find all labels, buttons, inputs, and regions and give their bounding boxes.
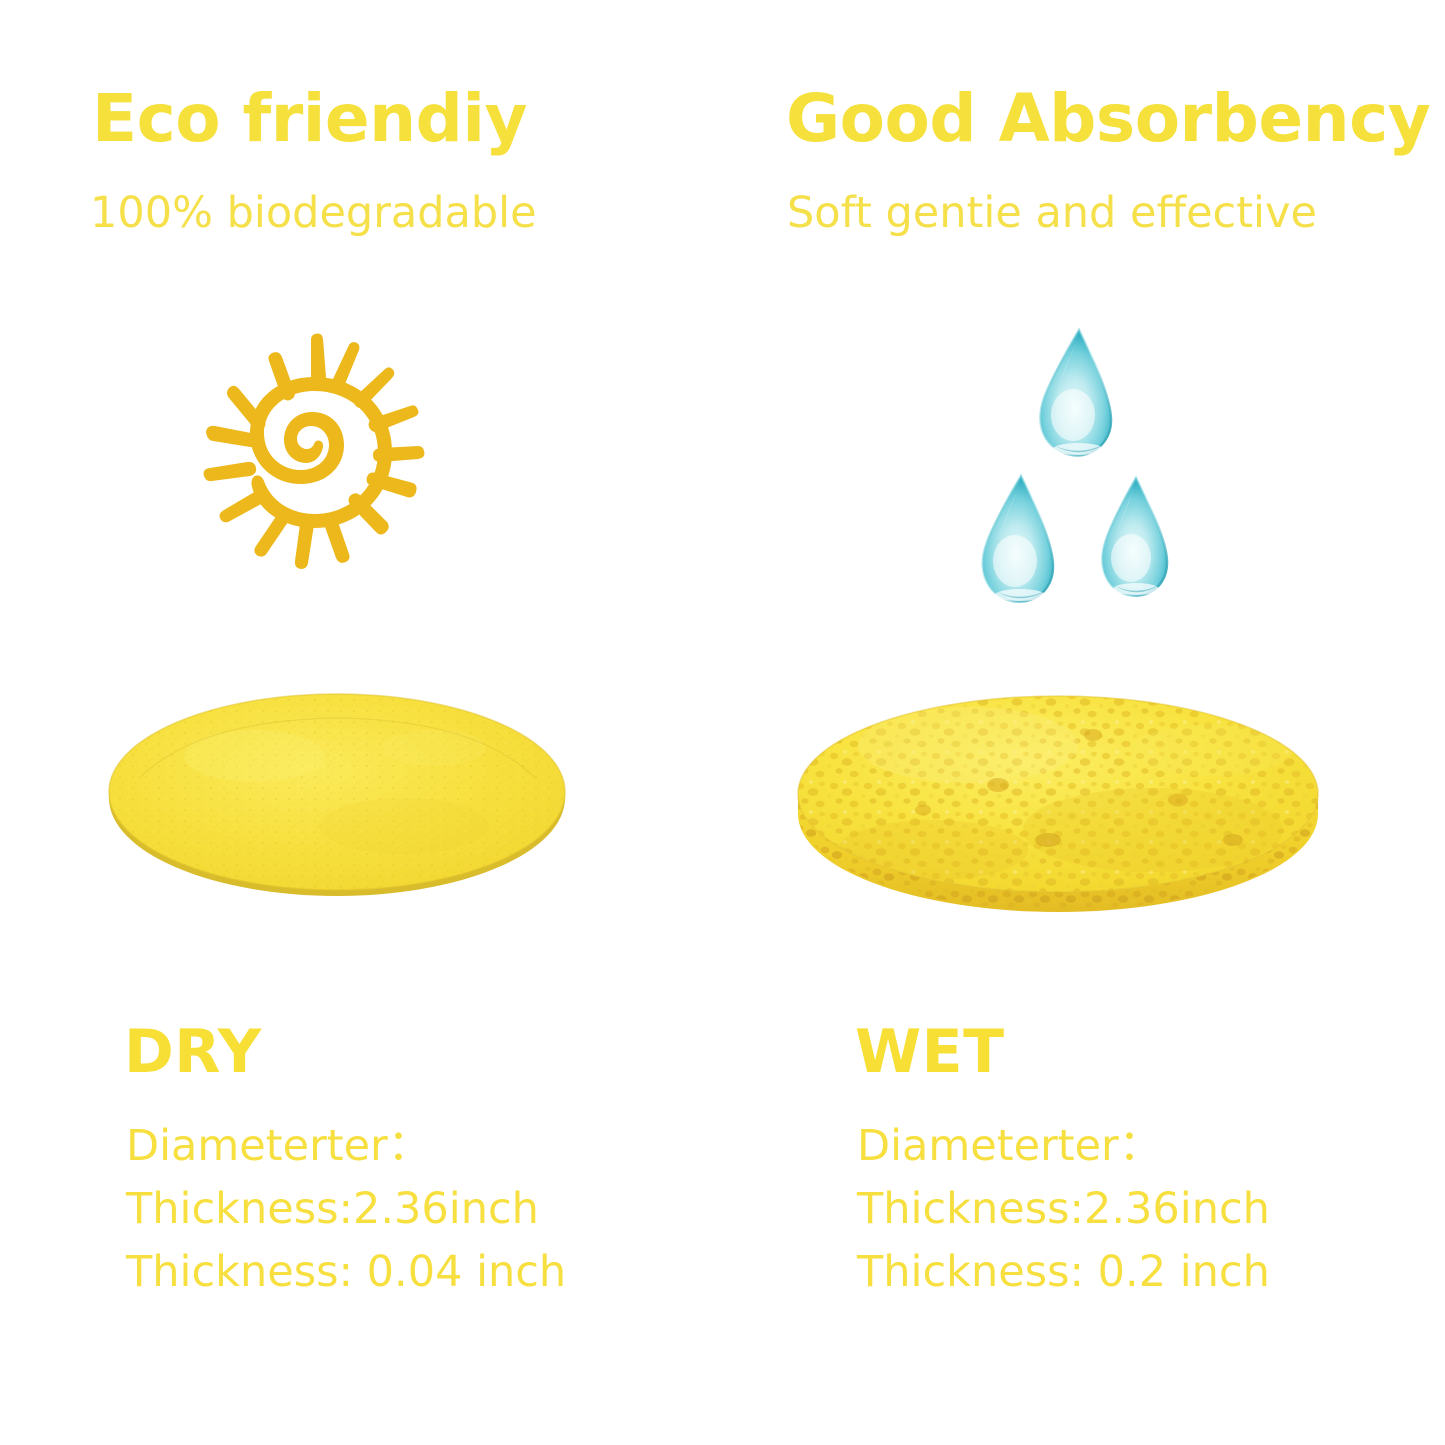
feature-subheading-absorbency: Soft gentie and effective [787, 192, 1317, 235]
product-infographic: Eco friendiy 100% biodegradable Good Abs… [0, 0, 1445, 1445]
sample-spec-dry-diameter: Diameterter： [126, 1125, 431, 1168]
sample-spec-wet-diameter: Diameterter： [857, 1125, 1162, 1168]
sun-icon [196, 320, 436, 580]
feature-heading-absorbency: Good Absorbency [786, 86, 1430, 152]
feature-heading-eco: Eco friendiy [92, 86, 527, 152]
feature-subheading-eco: 100% biodegradable [90, 192, 537, 235]
sample-state-label-wet: WET [855, 1022, 1005, 1082]
sample-spec-wet-thickness-2: Thickness: 0.2 inch [857, 1251, 1270, 1294]
water-drops-icon [960, 318, 1200, 603]
sample-state-label-dry: DRY [124, 1022, 262, 1082]
sample-spec-dry-thickness-1: Thickness:2.36inch [126, 1188, 539, 1231]
sample-spec-dry-thickness-2: Thickness: 0.04 inch [126, 1251, 566, 1294]
dry-sponge-disc [104, 686, 570, 901]
wet-sponge-disc [793, 690, 1323, 920]
sample-spec-wet-thickness-1: Thickness:2.36inch [857, 1188, 1270, 1231]
